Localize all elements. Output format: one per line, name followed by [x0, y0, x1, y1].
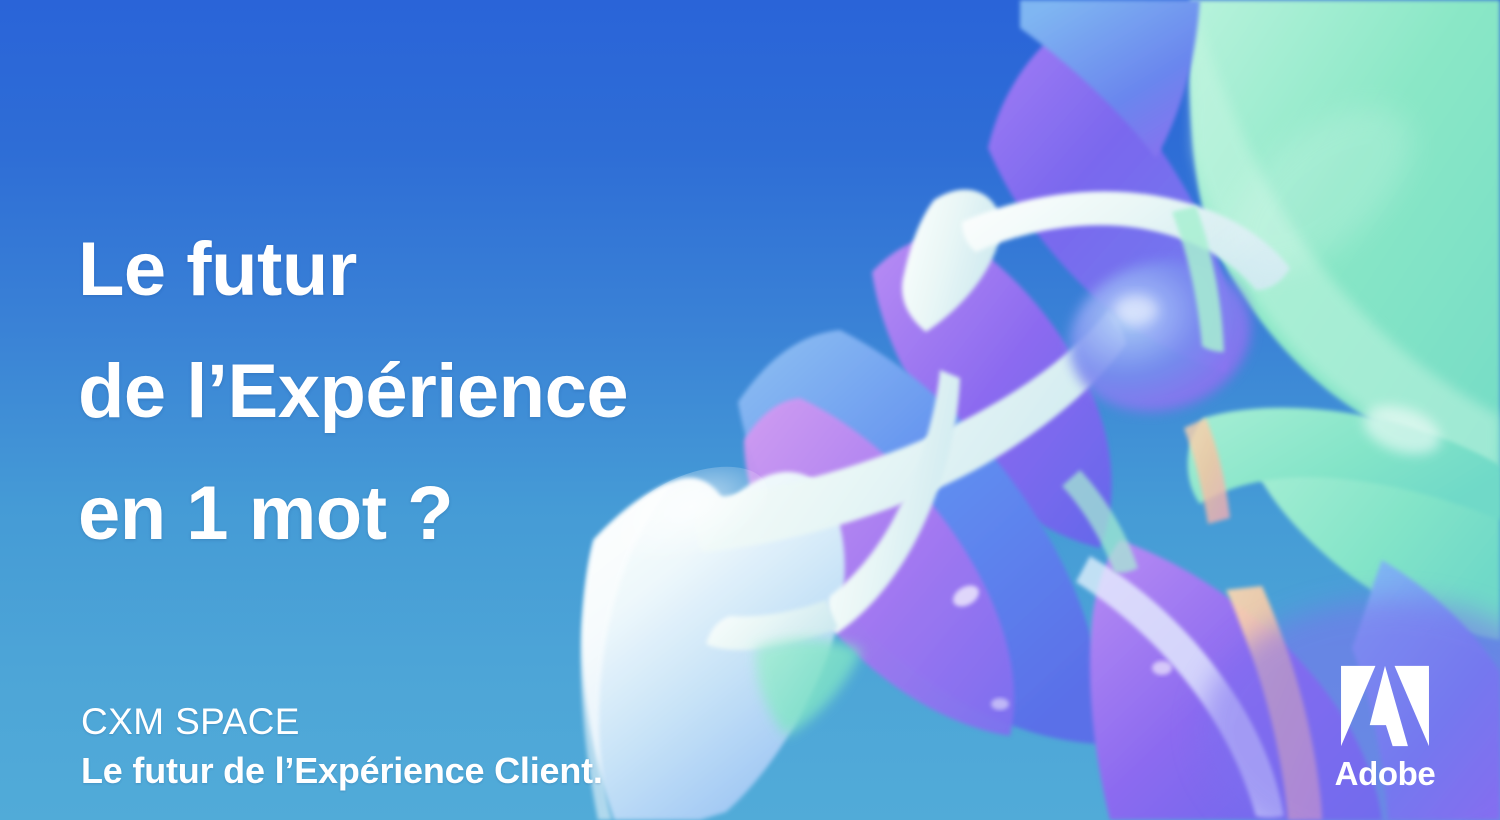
headline-line-2: de l’Expérience: [78, 331, 758, 453]
adobe-a-mark: [1337, 664, 1433, 750]
brand-tagline: Le futur de l’Expérience Client.: [81, 748, 603, 794]
brand-eyebrow: CXM SPACE: [81, 698, 603, 746]
page-title: Le futur de l’Expérience en 1 mot ?: [78, 209, 758, 575]
brand-lockup: CXM SPACE Le futur de l’Expérience Clien…: [81, 698, 603, 794]
slide-canvas: Le futur de l’Expérience en 1 mot ? CXM …: [0, 0, 1500, 820]
headline-line-1: Le futur: [78, 209, 758, 331]
headline-line-3: en 1 mot ?: [78, 453, 758, 575]
adobe-wordmark: Adobe: [1331, 756, 1439, 792]
adobe-logo: Adobe: [1331, 664, 1439, 792]
